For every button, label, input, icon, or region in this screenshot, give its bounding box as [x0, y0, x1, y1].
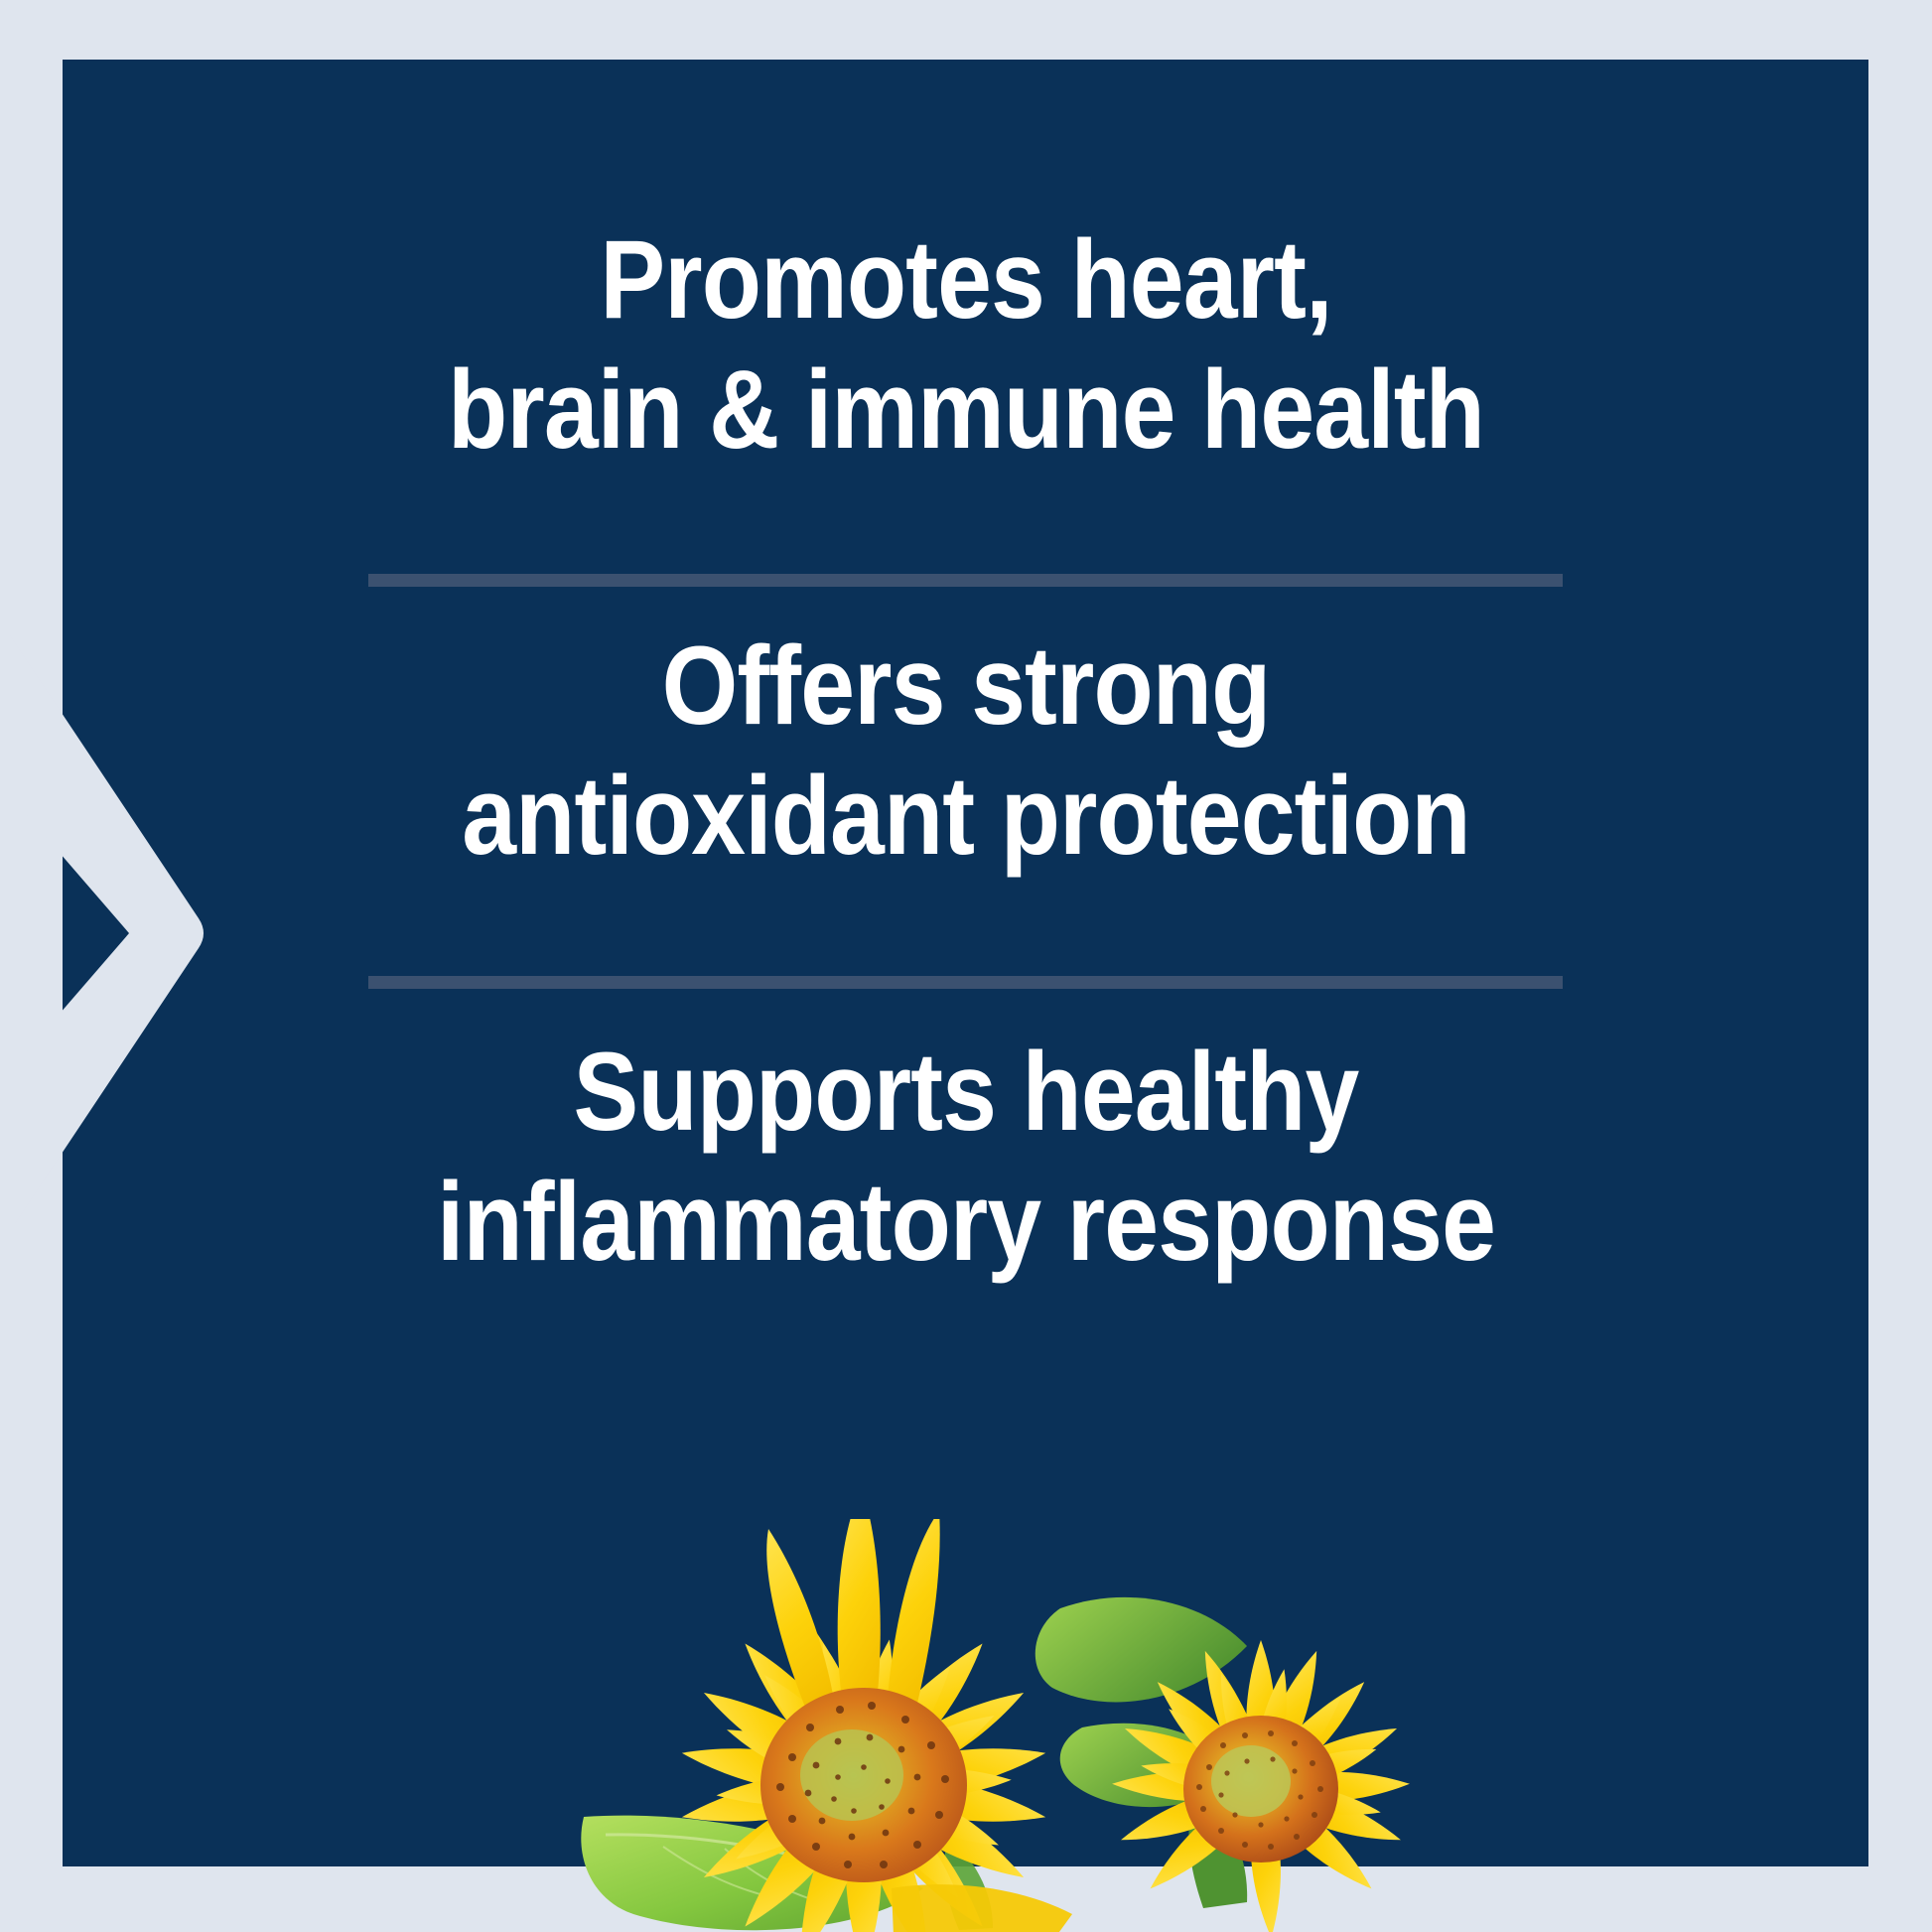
benefit-item-3: Supports healthy inflammatory response: [223, 1027, 1709, 1287]
benefit-item-2: Offers strong antioxidant protection: [223, 621, 1709, 881]
benefits-stack: Promotes heart, brain & immune health Of…: [63, 60, 1868, 1866]
benefit-item-1: Promotes heart, brain & immune health: [223, 214, 1709, 475]
promo-card: Promotes heart, brain & immune health Of…: [0, 0, 1932, 1932]
divider-2: [368, 976, 1563, 989]
divider-1: [368, 574, 1563, 587]
